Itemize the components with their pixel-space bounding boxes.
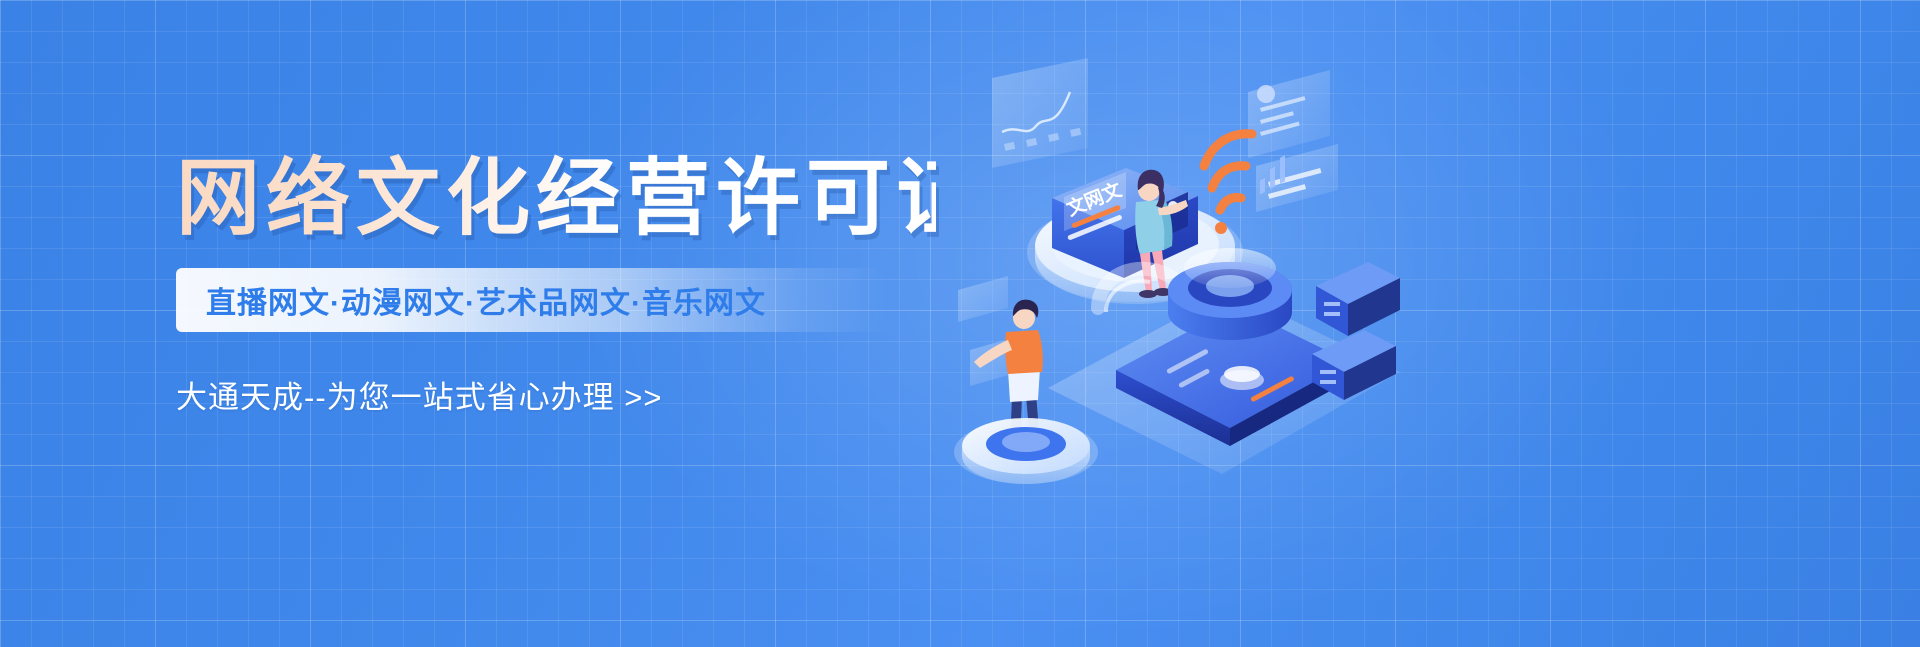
- tagline-link[interactable]: 大通天成--为您一站式省心办理 >>: [176, 372, 936, 417]
- subtitle-bar: 直播网文·动漫网文·艺术品网文·音乐网文: [176, 268, 888, 332]
- page-title: 网络文化经营许可证: [176, 150, 936, 246]
- central-tower: [1168, 248, 1292, 340]
- bar-chart-tile-icon: [1256, 144, 1338, 212]
- subtitle-text: 直播网文·动漫网文·艺术品网文·音乐网文: [176, 278, 766, 322]
- hero-illustration: 文网文: [930, 40, 1400, 470]
- disc-platform: [954, 418, 1098, 484]
- chart-panel-icon: [992, 58, 1088, 168]
- promo-banner: 网络文化经营许可证 直播网文·动漫网文·艺术品网文·音乐网文 大通天成--为您一…: [0, 0, 1920, 647]
- banner-copy: 网络文化经营许可证 直播网文·动漫网文·艺术品网文·音乐网文 大通天成--为您一…: [176, 150, 936, 417]
- document-panel-icon: [1248, 70, 1330, 158]
